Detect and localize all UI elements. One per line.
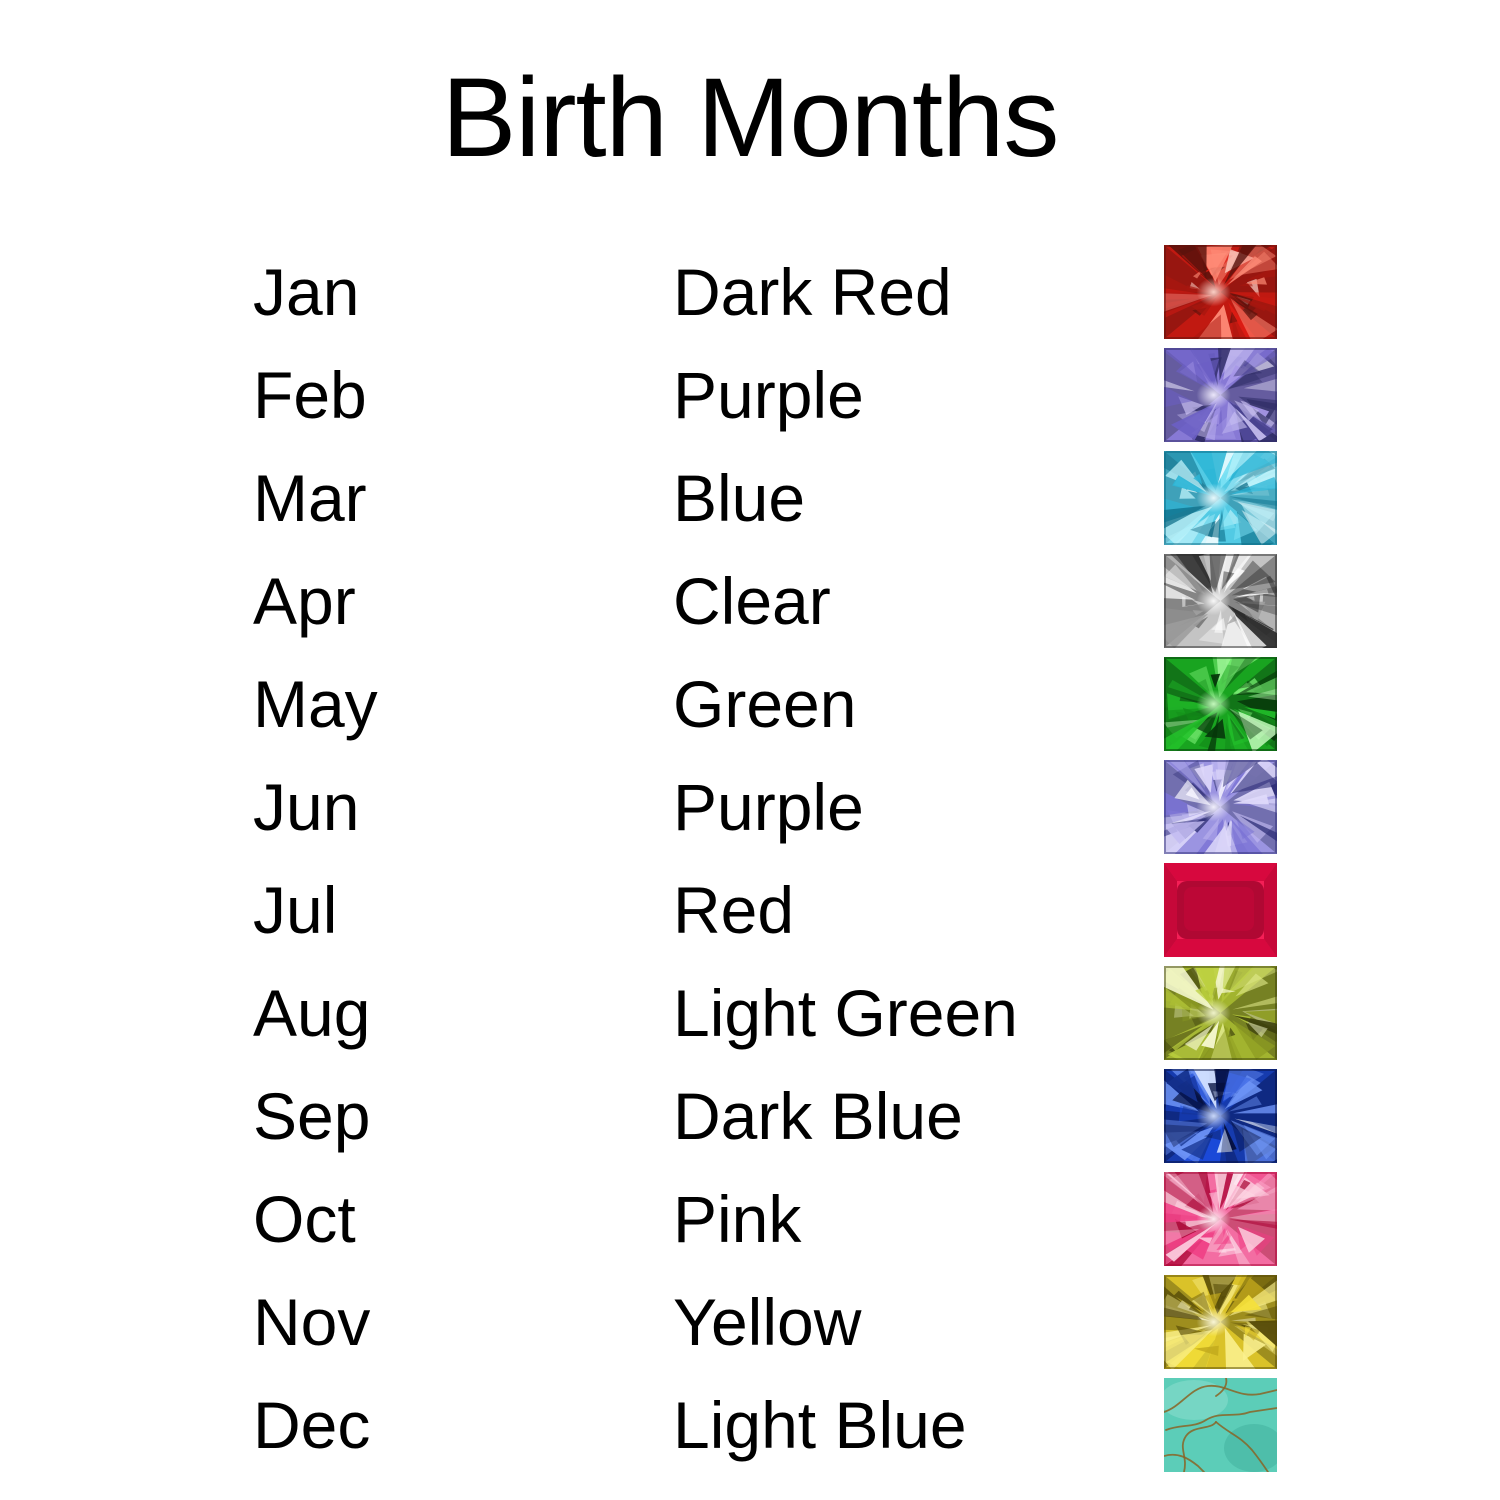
table-row: JunPurple (0, 760, 1500, 863)
ruby-gem-icon (1164, 863, 1277, 957)
month-label: Aug (253, 966, 613, 1061)
citrine-gem-icon (1164, 1275, 1277, 1369)
table-row: JanDark Red (0, 245, 1500, 348)
month-label: Feb (253, 348, 613, 443)
color-label: Yellow (673, 1275, 1143, 1370)
color-label: Purple (673, 760, 1143, 855)
table-row: JulRed (0, 863, 1500, 966)
color-label: Clear (673, 554, 1143, 649)
month-label: Sep (253, 1069, 613, 1164)
amethyst-gem-icon (1164, 348, 1277, 442)
color-label: Dark Red (673, 245, 1143, 340)
month-label: Jan (253, 245, 613, 340)
page-title: Birth Months (0, 62, 1500, 174)
color-label: Blue (673, 451, 1143, 546)
table-row: SepDark Blue (0, 1069, 1500, 1172)
diamond-gem-icon (1164, 554, 1277, 648)
month-label: Jun (253, 760, 613, 855)
color-label: Red (673, 863, 1143, 958)
color-label: Pink (673, 1172, 1143, 1267)
month-label: Dec (253, 1378, 613, 1473)
color-label: Light Green (673, 966, 1143, 1061)
month-label: Oct (253, 1172, 613, 1267)
month-label: May (253, 657, 613, 752)
table-row: OctPink (0, 1172, 1500, 1275)
table-row: MayGreen (0, 657, 1500, 760)
color-label: Light Blue (673, 1378, 1143, 1473)
peridot-gem-icon (1164, 966, 1277, 1060)
month-label: Mar (253, 451, 613, 546)
table-row: MarBlue (0, 451, 1500, 554)
table-row: DecLight Blue (0, 1378, 1500, 1481)
table-row: NovYellow (0, 1275, 1500, 1378)
emerald-gem-icon (1164, 657, 1277, 751)
color-label: Purple (673, 348, 1143, 443)
alexandrite-gem-icon (1164, 760, 1277, 854)
garnet-gem-icon (1164, 245, 1277, 339)
turquoise-gem-icon (1164, 1378, 1277, 1472)
color-label: Dark Blue (673, 1069, 1143, 1164)
month-label: Nov (253, 1275, 613, 1370)
month-label: Jul (253, 863, 613, 958)
table-row: FebPurple (0, 348, 1500, 451)
table-row: AprClear (0, 554, 1500, 657)
color-label: Green (673, 657, 1143, 752)
month-label: Apr (253, 554, 613, 649)
sapphire-gem-icon (1164, 1069, 1277, 1163)
birth-month-list: JanDark RedFebPurpleMarBlueAprClearMayGr… (0, 245, 1500, 1481)
birth-months-chart: Birth Months JanDark RedFebPurpleMarBlue… (0, 0, 1500, 1500)
tourmaline-gem-icon (1164, 1172, 1277, 1266)
aquamarine-gem-icon (1164, 451, 1277, 545)
table-row: AugLight Green (0, 966, 1500, 1069)
